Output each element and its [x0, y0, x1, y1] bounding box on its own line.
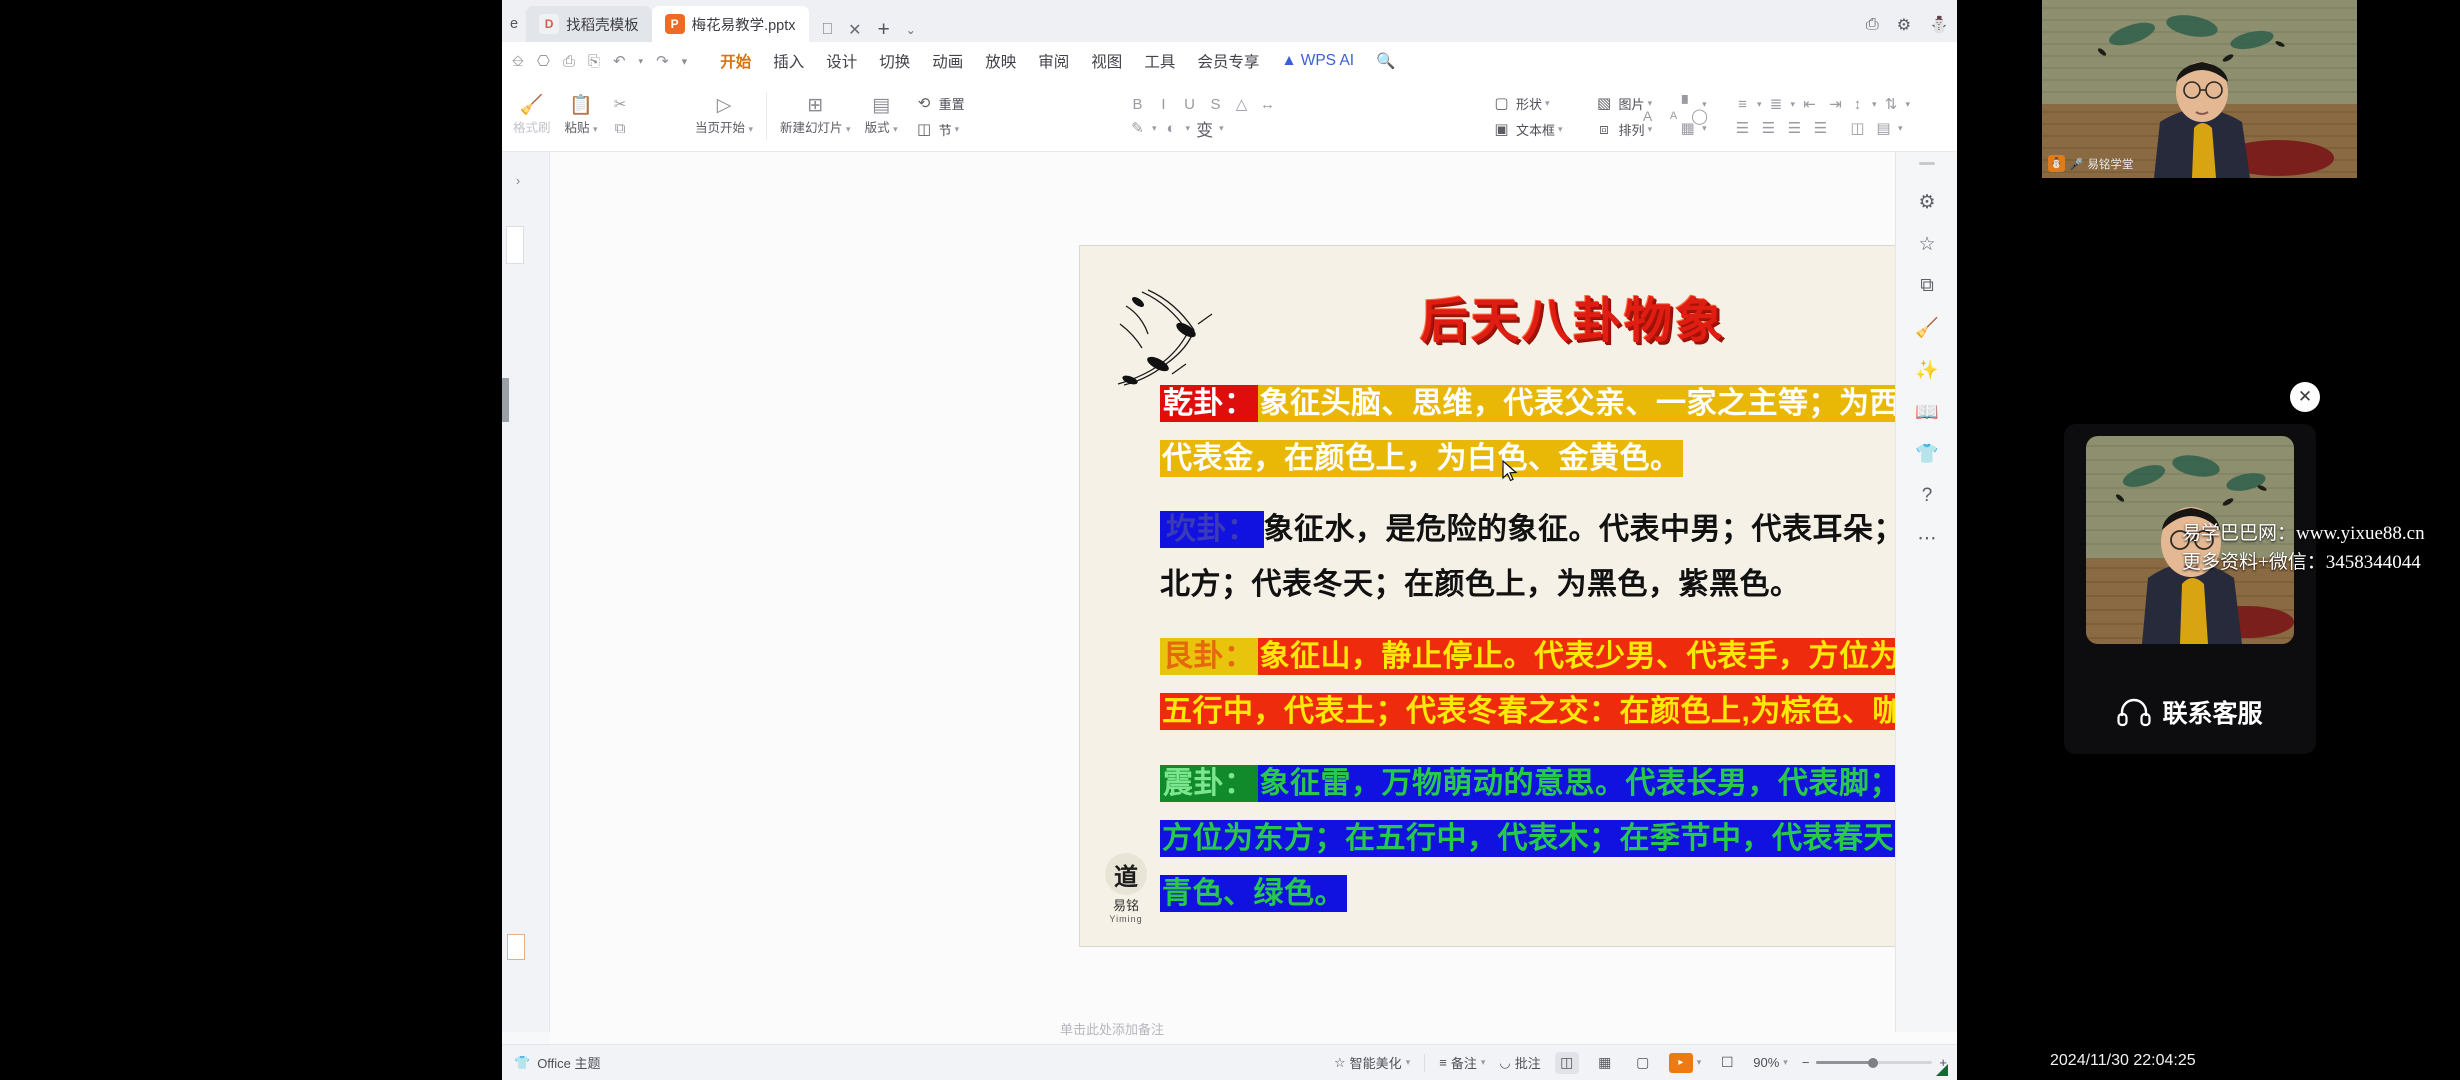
gen-name: 艮卦：	[1160, 638, 1258, 675]
zhen-line2: 方位为东方；在五行中，代表木；在季节中，代表春天;在颜色上,为	[1160, 820, 1957, 857]
print-preview-icon[interactable]: ⎘	[588, 53, 600, 70]
textbox-icon: ▣	[1490, 119, 1513, 139]
right-tool-rail: ⚙ ☆ ⧉ 🧹 ✨ 📖 👕 ? ⋯	[1895, 152, 1957, 1032]
justify-icon[interactable]: ☰	[1809, 118, 1832, 138]
tab-review[interactable]: 审阅	[1027, 46, 1080, 76]
section-icon: ◫	[913, 119, 936, 139]
tab-presentation-label: 梅花易教学.pptx	[692, 14, 796, 35]
picture-button[interactable]: ▧ 图片 ▾	[1589, 92, 1657, 114]
format-painter-button[interactable]: 🧹 格式刷	[506, 96, 558, 136]
zhen-line1: 象征雷，万物萌动的意思。代表长男，代表脚；在人物中，	[1258, 765, 1958, 802]
font-style-stack: B I U S △ ↔ ✎ ▾ ◐ ▾ 变 ▾	[1122, 94, 1283, 138]
section-label: 节	[939, 120, 952, 139]
status-right-controls: ☆ 智能美化 ▾ ≡ 备注 ▾ ◡ 批注 ◫ ▦ ▢ ▸	[1334, 1052, 1947, 1074]
ai-logo-icon: ▲	[1281, 52, 1296, 70]
new-slide-button[interactable]: ⊞ 新建幻灯片 ▾	[773, 96, 858, 136]
paragraph-stack: ≡ ▾ ≣ ▾ ⇤ ⇥ ☰ ☰ ☰ ☰	[1727, 94, 1851, 138]
sort-icon[interactable]: ⇅	[1880, 94, 1903, 114]
text-block-kan[interactable]: 坎卦：象征水，是危险的象征。代表中男；代表耳朵；后天方位为 北方；代表冬天；在颜…	[1160, 504, 1957, 603]
rail-grip[interactable]	[1919, 162, 1935, 165]
bold-icon[interactable]: B	[1126, 94, 1149, 114]
shape-label: 形状	[1516, 94, 1542, 113]
layout-label: 版式	[865, 121, 890, 135]
tab-transitions[interactable]: 切换	[868, 46, 921, 76]
text-block-qian[interactable]: 乾卦：象征头脑、思维，代表父亲、一家之主等；为西北方；五行 代表金，在颜色上，为…	[1160, 378, 1957, 477]
strikethrough-icon[interactable]: S	[1204, 94, 1227, 114]
play-circle-icon: ▷	[717, 96, 732, 115]
ribbon-group-insert: ▢ 形状 ▾ ▣ 文本框 ▾ ▧ 图片 ▾	[1482, 80, 1711, 152]
text-highlight-icon[interactable]: ✎	[1126, 118, 1149, 138]
arrange-icon: ⧈	[1593, 119, 1616, 139]
left-black-gutter	[0, 0, 502, 1080]
contact-support-popup[interactable]: 联系客服	[2064, 424, 2316, 754]
tab-wps-ai[interactable]: ▲ WPS AI	[1270, 48, 1365, 74]
kan-name: 坎卦：	[1160, 511, 1264, 548]
comment-label: 批注	[1515, 1053, 1541, 1072]
book-search-icon[interactable]: 📖	[1896, 391, 1958, 433]
arrange-label: 排列	[1619, 120, 1645, 139]
cut-copy-stack: ✂ ⧉	[605, 94, 636, 138]
shape-icon: ▢	[1490, 93, 1513, 113]
zoom-knob[interactable]	[1868, 1058, 1878, 1068]
webcam-speaker-name: 易铭学堂	[2087, 156, 2133, 172]
notes-icon: ≡	[1439, 1055, 1447, 1070]
brush-icon[interactable]: 🧹	[1896, 307, 1958, 349]
redo-icon[interactable]: ↷	[656, 52, 669, 70]
normal-view-icon[interactable]: ◫	[1555, 1052, 1579, 1074]
undo-icon[interactable]: ↶	[613, 52, 626, 70]
comment-icon: ◡	[1499, 1055, 1510, 1071]
smart-beautify-button[interactable]: ☆ 智能美化 ▾	[1334, 1053, 1410, 1072]
reset-section-stack: ⟲ 重置 ◫ 节 ▾	[905, 92, 973, 140]
insert-stack-2: ▧ 图片 ▾ ⧈ 排列 ▾	[1585, 92, 1661, 140]
slide-editing-canvas[interactable]: 后天八卦物象 乾卦：象征头脑、思维，代表父亲、一家之主等；为西北方；五行 代表金…	[550, 152, 1957, 1032]
tab-find-templates-label: 找稻壳模板	[566, 14, 639, 35]
clipboard-icon: 📋	[569, 96, 593, 115]
start-from-page-label: 当页开始	[695, 121, 745, 135]
arrange-button[interactable]: ⧈ 排列 ▾	[1589, 118, 1657, 140]
gen-line1: 象征山，静止停止。代表少男、代表手，方位为东北方：在	[1258, 638, 1958, 675]
print-icon[interactable]: ⎙	[563, 53, 575, 70]
ribbon-group-slides: ▷ 当页开始 ▾ ⊞ 新建幻灯片 ▾ ▤ 版式 ▾ ⟲ 重置	[688, 80, 973, 152]
quick-access-toolbar: ⎒ ⎔ ⎙ ⎘ ↶ ▾ ↷ ▾	[502, 52, 687, 70]
picture-icon: ▧	[1593, 93, 1616, 113]
slide-logo-left: 道 易铭 Yiming	[1098, 853, 1154, 924]
decrease-indent-icon[interactable]: ⇤	[1798, 94, 1821, 114]
webcam-video-tile[interactable]: ⛄ 🎤 易铭学堂	[2042, 0, 2357, 178]
tab-wps-ai-label: WPS AI	[1301, 52, 1354, 70]
notes-label: 备注	[1451, 1053, 1477, 1072]
star-icon[interactable]: ☆	[1896, 223, 1958, 265]
fit-to-window-icon[interactable]: ☐	[1715, 1052, 1739, 1074]
shape-button[interactable]: ▢ 形状 ▾	[1486, 92, 1567, 114]
new-slide-label: 新建幻灯片	[780, 121, 843, 135]
tab-design[interactable]: 设计	[815, 46, 868, 76]
save-icon[interactable]: ⎒	[512, 53, 524, 70]
settings-gear-icon[interactable]: ⚙	[1897, 15, 1911, 35]
watermark-line1: 易学巴巴网：www.yixue88.cn	[2182, 520, 2460, 549]
zoom-track[interactable]	[1816, 1061, 1932, 1064]
tab-tools[interactable]: 工具	[1133, 46, 1186, 76]
scissors-icon[interactable]: ✂	[609, 94, 632, 114]
ppt-icon: P	[665, 14, 685, 34]
insert-stack-3: ▘▾ ▦▾	[1672, 94, 1711, 138]
tab-view[interactable]: 视图	[1080, 46, 1133, 76]
ribbon-group-paragraph-extra: ↕ ▾ ⇅ ▾ ◫ ▤ ▾	[1842, 80, 1914, 152]
paste-label: 粘贴	[565, 121, 590, 135]
tab-bar-tools: ⎕ ✕ + ⌄	[823, 18, 916, 42]
recording-timestamp: 2024/11/30 22:04:25	[2050, 1052, 2196, 1070]
avatar-icon: ⛄	[2048, 155, 2065, 172]
play-slideshow-icon: ▸	[1669, 1053, 1693, 1073]
window-controls: ⎙ ⚙ ⛄	[1866, 15, 1949, 35]
restore-window-icon[interactable]: ⎕	[823, 21, 833, 39]
align-right-icon[interactable]: ☰	[1783, 118, 1806, 138]
smart-beautify-label: 智能美化	[1350, 1053, 1402, 1072]
doc-icon: D	[539, 14, 559, 34]
slide-thumbnail[interactable]	[506, 226, 524, 264]
format-painter-label: 格式刷	[513, 117, 551, 136]
slide-surface[interactable]: 后天八卦物象 乾卦：象征头脑、思维，代表父亲、一家之主等；为西北方；五行 代表金…	[1080, 246, 1957, 946]
save-as-icon[interactable]: ⎔	[537, 52, 550, 70]
gen-line2: 五行中，代表土；代表冬春之交：在颜色上,为棕色、咖啡色。	[1160, 693, 1957, 730]
dao-glyph: 道	[1105, 853, 1147, 895]
zhen-name: 震卦：	[1160, 765, 1258, 802]
table-icon[interactable]: ▦	[1676, 118, 1699, 138]
layout-button[interactable]: ▤ 版式 ▾	[858, 96, 905, 136]
qian-name: 乾卦：	[1160, 385, 1258, 422]
slide-sorter-icon[interactable]: ▦	[1593, 1052, 1617, 1074]
reset-icon: ⟲	[913, 93, 936, 113]
kan-line1: 象征水，是危险的象征。代表中男；代表耳朵；后天方位为	[1264, 513, 1958, 546]
ribbon-tabs: 开始 插入 设计 切换 动画 放映 审阅 视图 工具 会员专享 ▲ WPS AI…	[709, 46, 1406, 76]
watermark-line2: 更多资料+微信：3458344044	[2182, 549, 2460, 578]
close-tab-icon[interactable]: ✕	[848, 20, 861, 40]
ribbon-group-paragraph: ≡ ▾ ≣ ▾ ⇤ ⇥ ☰ ☰ ☰ ☰	[1727, 80, 1851, 152]
menu-bar: ⎒ ⎔ ⎙ ⎘ ↶ ▾ ↷ ▾ 开始 插入 设计 切换 动画 放映 审阅 视图 …	[502, 42, 1957, 80]
expand-panel-chevron-icon[interactable]: ›	[508, 168, 528, 192]
webcam-frame	[2042, 0, 2357, 178]
slide-title[interactable]: 后天八卦物象	[1420, 281, 1726, 351]
notes-pane[interactable]: 单击此处添加备注	[550, 1012, 1957, 1044]
tab-edge[interactable]: e	[502, 6, 526, 42]
microphone-icon: 🎤	[2069, 157, 2083, 171]
text-block-zhen[interactable]: 震卦：象征雷，万物萌动的意思。代表长男，代表脚；在人物中， 方位为东方；在五行中…	[1160, 758, 1957, 912]
tab-list-caret-icon[interactable]: ⌄	[906, 23, 916, 37]
pinyin-icon[interactable]: 变	[1193, 118, 1216, 138]
contact-support-button[interactable]: 联系客服	[2064, 694, 2316, 730]
notes-button[interactable]: ≡ 备注 ▾	[1439, 1053, 1485, 1072]
watermark-text: 易学巴巴网：www.yixue88.cn 更多资料+微信：3458344044	[2182, 520, 2460, 577]
text-shadow-icon[interactable]: △	[1230, 94, 1253, 114]
comment-button[interactable]: ◡ 批注	[1499, 1053, 1540, 1072]
qat-more-caret-icon[interactable]: ▾	[682, 55, 688, 68]
align-left-icon[interactable]: ☰	[1731, 118, 1754, 138]
theme-shirt-icon[interactable]: 👕	[1896, 433, 1958, 475]
ribbon-group-clipboard: 🧹 格式刷 📋 粘贴 ▾ ✂ ⧉	[506, 80, 636, 152]
char-spacing-icon[interactable]: ↔	[1256, 94, 1279, 114]
magic-wand-icon[interactable]: ✨	[1896, 349, 1958, 391]
textbox-button[interactable]: ▣ 文本框 ▾	[1486, 118, 1567, 140]
line-spacing-icon[interactable]: ↕	[1846, 94, 1869, 114]
tab-member-exclusive[interactable]: 会员专享	[1186, 46, 1270, 76]
shape-stack-icon[interactable]: ⧉	[1896, 265, 1958, 307]
logo-left-line2: Yiming	[1098, 914, 1154, 924]
zoom-slider[interactable]: − +	[1802, 1055, 1947, 1070]
tab-home[interactable]: 开始	[709, 46, 762, 76]
italic-icon[interactable]: I	[1152, 94, 1175, 114]
logo-left-line1: 易铭	[1098, 895, 1154, 914]
screen: e D 找稻壳模板 P 梅花易教学.pptx ⎕ ✕ + ⌄ ⎙ ⚙ ⛄	[0, 0, 2460, 1080]
browser-tab-bar: e D 找稻壳模板 P 梅花易教学.pptx ⎕ ✕ + ⌄ ⎙ ⚙ ⛄	[502, 0, 1957, 42]
headset-icon	[2117, 697, 2151, 727]
qian-line1: 象征头脑、思维，代表父亲、一家之主等；为西北方；五行	[1258, 385, 1958, 422]
bullet-list-icon[interactable]: ≡	[1731, 94, 1754, 114]
sliders-icon[interactable]: ⚙	[1896, 181, 1958, 223]
reset-button[interactable]: ⟲ 重置	[909, 92, 969, 114]
text-block-gen[interactable]: 艮卦：象征山，静止停止。代表少男、代表手，方位为东北方：在 五行中，代表土；代表…	[1160, 631, 1957, 730]
ribbon-toolbar: 🧹 格式刷 📋 粘贴 ▾ ✂ ⧉ ▷ 当页开始 ▾	[502, 80, 1957, 152]
tab-slideshow[interactable]: 放映	[974, 46, 1027, 76]
status-theme[interactable]: 👕 Office 主题	[514, 1053, 601, 1072]
help-circle-icon[interactable]: ?	[1896, 475, 1958, 517]
zoom-out-button[interactable]: −	[1802, 1055, 1810, 1070]
align-center-icon[interactable]: ☰	[1757, 118, 1780, 138]
chart-icon[interactable]: ▘	[1676, 94, 1699, 114]
numbered-list-icon[interactable]: ≣	[1765, 94, 1788, 114]
textbox-label: 文本框	[1516, 120, 1555, 139]
tab-find-templates[interactable]: D 找稻壳模板	[526, 6, 652, 42]
tab-edge-label: e	[510, 16, 518, 32]
copy-icon[interactable]: ⧉	[609, 118, 632, 138]
add-slide-thumbnail-button[interactable]	[507, 934, 525, 960]
qian-line2: 代表金，在颜色上，为白色、金黄色。	[1160, 440, 1683, 477]
text-direction-icon[interactable]: ▤	[1872, 118, 1895, 138]
ribbon-group-font: B I U S △ ↔ ✎ ▾ ◐ ▾ 变 ▾	[1122, 80, 1283, 152]
slide-selection-marker	[502, 378, 509, 422]
font-color-icon[interactable]: ◐	[1160, 118, 1183, 138]
notes-placeholder: 单击此处添加备注	[1060, 1019, 1164, 1038]
brush-icon: 🧹	[520, 96, 544, 115]
beautify-icon: ☆	[1334, 1055, 1346, 1071]
paste-button[interactable]: 📋 粘贴 ▾	[558, 96, 605, 136]
layout-icon: ▤	[872, 96, 890, 115]
play-slideshow-button[interactable]: ▸ ▾	[1669, 1053, 1702, 1073]
sidebar-icon[interactable]: ⎙	[1866, 16, 1879, 34]
theme-icon: 👕	[514, 1055, 530, 1071]
tab-animations[interactable]: 动画	[921, 46, 974, 76]
new-tab-button[interactable]: +	[878, 18, 890, 42]
search-icon[interactable]: 🔍	[1365, 48, 1406, 75]
popup-close-button[interactable]: ✕	[2290, 382, 2320, 412]
mouse-cursor	[1502, 460, 1518, 482]
tab-insert[interactable]: 插入	[762, 46, 815, 76]
new-slide-icon: ⊞	[807, 96, 823, 115]
more-dots-icon[interactable]: ⋯	[1896, 517, 1958, 559]
paragraph-extra-stack: ↕ ▾ ⇅ ▾ ◫ ▤ ▾	[1842, 94, 1914, 138]
section-button[interactable]: ◫ 节 ▾	[909, 118, 969, 140]
reading-view-icon[interactable]: ▢	[1631, 1052, 1655, 1074]
account-icon[interactable]: ⛄	[1929, 15, 1949, 35]
undo-caret-icon[interactable]: ▾	[639, 56, 644, 67]
divider	[1424, 1054, 1425, 1072]
columns-icon[interactable]: ◫	[1846, 118, 1869, 138]
reset-label: 重置	[939, 94, 965, 113]
start-from-current-page-button[interactable]: ▷ 当页开始 ▾	[688, 96, 760, 136]
zhen-line3: 青色、绿色。	[1160, 875, 1347, 912]
webcam-speaker-badge: ⛄ 🎤 易铭学堂	[2048, 155, 2133, 172]
theme-label: Office 主题	[537, 1053, 600, 1072]
underline-icon[interactable]: U	[1178, 94, 1201, 114]
picture-label: 图片	[1619, 94, 1645, 113]
wps-presentation-window: e D 找稻壳模板 P 梅花易教学.pptx ⎕ ✕ + ⌄ ⎙ ⚙ ⛄	[502, 0, 1957, 1080]
zoom-level[interactable]: 90% ▾	[1753, 1055, 1788, 1070]
zoom-label: 90%	[1753, 1055, 1779, 1070]
insert-stack: ▢ 形状 ▾ ▣ 文本框 ▾	[1482, 92, 1571, 140]
divider	[766, 92, 767, 140]
contact-support-label: 联系客服	[2162, 694, 2262, 730]
slide-thumbnail-panel[interactable]	[502, 152, 550, 1032]
status-bar: 👕 Office 主题 ☆ 智能美化 ▾ ≡ 备注 ▾ ◡ 批注	[502, 1044, 1957, 1080]
zoom-fill	[1816, 1061, 1872, 1064]
tab-presentation-file[interactable]: P 梅花易教学.pptx	[652, 6, 809, 42]
kan-line2: 北方；代表冬天；在颜色上，为黑色，紫黑色。	[1160, 568, 1801, 601]
